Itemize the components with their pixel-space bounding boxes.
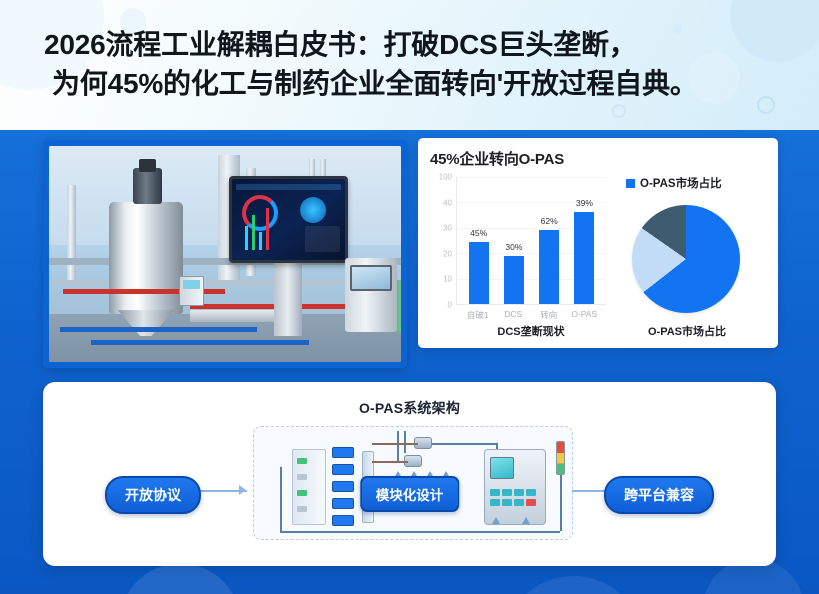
bar-value-label: 39%: [576, 198, 593, 208]
plc-display: [490, 457, 514, 479]
bar: [574, 212, 594, 304]
statistics-chart-card: 45%企业转向O-PAS 100 40 30 20 10 0: [418, 138, 778, 348]
keypad-key: [502, 489, 512, 496]
bar: [539, 230, 559, 304]
status-led: [297, 458, 307, 464]
keypad-key: [490, 489, 500, 496]
blue-pipe: [91, 340, 309, 345]
reactor-vessel: [109, 202, 183, 314]
hmi-data-panel: [305, 226, 339, 252]
pill-open-protocol[interactable]: 开放协议: [105, 476, 201, 514]
flow-arrow-up: [492, 517, 500, 524]
chart-title: 45%企业转向O-PAS: [430, 148, 766, 169]
signal-wire: [432, 443, 496, 445]
keypad-key: [526, 499, 536, 506]
x-tick: DCS: [496, 309, 530, 321]
hmi-screen: [232, 179, 346, 259]
signal-wire: [450, 531, 560, 533]
bar-chart-caption: DCS垄断现状: [456, 323, 606, 339]
title-line-1: 2026流程工业解耦白皮书：打破DCS巨头垄断，: [44, 26, 793, 65]
io-rack: [292, 449, 326, 525]
y-tick: 20: [443, 249, 452, 258]
red-pipe: [190, 304, 348, 309]
bar-slot: 39%: [574, 177, 594, 304]
hmi-header-strip: [236, 184, 341, 190]
bar-chart-x-axis: 自破1 DCS 转向 O-PAS: [456, 309, 606, 321]
y-tick: 0: [448, 301, 452, 310]
signal-wire: [397, 431, 399, 461]
decorative-ring: [612, 104, 626, 118]
hmi-bar: [245, 226, 248, 250]
bar-slot: 62%: [539, 177, 559, 304]
io-module: [332, 498, 354, 509]
signal-wire: [280, 531, 460, 533]
pie-chart: O-PAS市场占比 O-PAS市场占比: [608, 173, 766, 341]
hmi-monitor: [229, 176, 349, 262]
bar-slot: 30%: [504, 177, 524, 304]
keypad-key: [514, 499, 524, 506]
bar-chart-y-axis: 100 40 30 20 10 0: [430, 177, 454, 305]
header-banner: 2026流程工业解耦白皮书：打破DCS巨头垄断， 为何45%的化工与制药企业全面…: [0, 0, 819, 130]
pill-cross-platform[interactable]: 跨平台兼容: [604, 476, 714, 514]
io-module: [332, 464, 354, 475]
agitator-motor: [133, 168, 161, 205]
hmi-bar: [252, 215, 255, 250]
legend-swatch-icon: [626, 179, 635, 188]
page-title: 2026流程工业解耦白皮书：打破DCS巨头垄断， 为何45%的化工与制药企业全面…: [0, 0, 819, 103]
pie-chart-caption: O-PAS市场占比: [608, 323, 766, 339]
motor-cap: [139, 159, 157, 172]
content-top-row: 45%企业转向O-PAS 100 40 30 20 10 0: [0, 130, 819, 378]
io-module: [332, 515, 354, 526]
bar-plot-area: 45% 30% 62%: [456, 177, 606, 305]
signal-wire: [372, 461, 408, 463]
signal-tower-light: [556, 441, 565, 475]
pie-legend: O-PAS市场占比: [626, 175, 766, 191]
signal-wire: [404, 431, 406, 453]
y-tick: 30: [443, 224, 452, 233]
module-column: [332, 447, 354, 527]
field-box-display: [183, 280, 201, 289]
signal-wire: [280, 467, 282, 531]
y-tick: 100: [439, 173, 452, 182]
arrow-right-icon: [239, 485, 246, 495]
status-led: [297, 474, 307, 480]
status-led: [297, 506, 307, 512]
legend-label: O-PAS市场占比: [640, 175, 722, 191]
architecture-card: O-PAS系统架构: [43, 382, 776, 566]
plc-keypad: [490, 489, 536, 515]
poster-page: 2026流程工业解耦白皮书：打破DCS巨头垄断， 为何45%的化工与制药企业全面…: [0, 0, 819, 594]
keypad-key: [526, 489, 536, 496]
chart-body: 100 40 30 20 10 0: [430, 173, 766, 341]
io-module: [332, 481, 354, 492]
bar: [504, 256, 524, 304]
y-tick: 40: [443, 198, 452, 207]
status-led: [297, 490, 307, 496]
plant-photo-card: [43, 140, 407, 368]
pie-graphic: [632, 205, 740, 313]
x-tick: 转向: [532, 309, 566, 321]
bar-value-label: 45%: [470, 228, 487, 238]
keypad-key: [490, 499, 500, 506]
io-module: [332, 447, 354, 458]
architecture-title: O-PAS系统架构: [43, 382, 776, 418]
flow-arrow-up: [522, 517, 530, 524]
hmi-bar: [266, 208, 269, 250]
x-tick: O-PAS: [567, 309, 601, 321]
bar-value-label: 62%: [541, 216, 558, 226]
bar-series: 45% 30% 62%: [457, 177, 606, 304]
signal-wire: [560, 471, 562, 531]
keypad-key: [514, 489, 524, 496]
y-tick: 10: [443, 275, 452, 284]
hmi-vessel-widget: [300, 197, 326, 223]
console-display: [350, 265, 392, 291]
bar-value-label: 30%: [505, 242, 522, 252]
keypad-key: [502, 499, 512, 506]
signal-wire: [372, 443, 418, 445]
bar-chart: 100 40 30 20 10 0: [430, 173, 608, 341]
title-line-2: 为何45%的化工与制药企业全面转向'开放过程自典。: [44, 65, 793, 104]
industrial-plant-photo: [49, 146, 401, 362]
monitor-stand: [274, 263, 302, 336]
bar: [469, 242, 489, 304]
x-tick: 自破1: [461, 309, 495, 321]
bar-slot: 45%: [469, 177, 489, 304]
hmi-bar: [259, 232, 262, 250]
pill-modular-design[interactable]: 模块化设计: [360, 476, 460, 512]
blue-pipe: [60, 327, 257, 332]
architecture-diagram: 开放协议 模块化设计 跨平台兼容: [43, 422, 776, 546]
distillation-column: [67, 185, 76, 280]
